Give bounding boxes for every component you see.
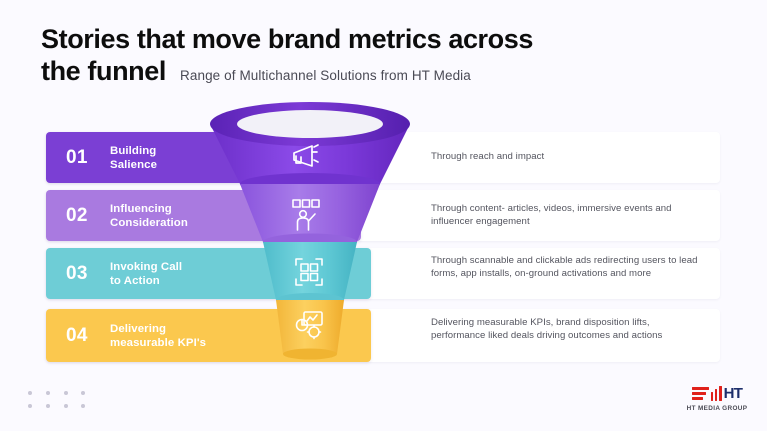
stage-number-3: 03 [66,263,110,285]
stage-description-1: Through reach and impact [431,150,703,163]
logo-ticks-icon [711,386,722,401]
stage-label-1: Building Salience [110,144,157,172]
stage-label-2-line1: Influencing [110,203,172,215]
stage-description-2: Through content- articles, videos, immer… [431,202,703,228]
stage-number-4: 04 [66,325,110,347]
page-subtitle: Range of Multichannel Solutions from HT … [180,68,471,83]
title-line-2: the funnel [41,56,166,87]
stage-label-1-line2: Salience [110,159,157,171]
dot [28,391,32,395]
stage-label-4: Delivering measurable KPI's [110,322,206,350]
stage-number-2: 02 [66,205,110,227]
ht-media-group-logo: HT HT MEDIA GROUP [681,385,753,412]
title-line-1: Stories that move brand metrics across [41,24,533,54]
title-second-row: the funnel Range of Multichannel Solutio… [41,56,681,87]
decorative-dots [28,391,94,411]
stage-label-3-line2: to Action [110,275,160,287]
dot [64,391,68,395]
dot [46,404,50,408]
stage-label-1-line1: Building [110,145,156,157]
stage-description-3: Through scannable and clickable ads redi… [431,254,703,280]
dot [46,391,50,395]
logo-tagline: HT MEDIA GROUP [681,405,753,412]
logo-brand-text: HT [724,386,743,401]
dot [64,404,68,408]
stage-label-2-line2: Consideration [110,217,188,229]
stage-label-4-line2: measurable KPI's [110,337,206,349]
page-title: Stories that move brand metrics across [41,24,616,55]
stage-description-4: Delivering measurable KPIs, brand dispos… [431,316,703,342]
slide-canvas: Stories that move brand metrics across t… [0,0,767,431]
stage-label-4-line1: Delivering [110,323,166,335]
dot [28,404,32,408]
stage-label-3: Invoking Call to Action [110,260,182,288]
dot [81,404,85,408]
stage-label-3-line1: Invoking Call [110,261,182,273]
stage-number-1: 01 [66,147,110,169]
stage-label-2: Influencing Consideration [110,202,188,230]
funnel-graphic [194,102,426,360]
logo-bars-icon [692,387,709,400]
dot [81,391,85,395]
slide-header: Stories that move brand metrics across t… [41,24,681,87]
logo-mark: HT [681,385,753,402]
